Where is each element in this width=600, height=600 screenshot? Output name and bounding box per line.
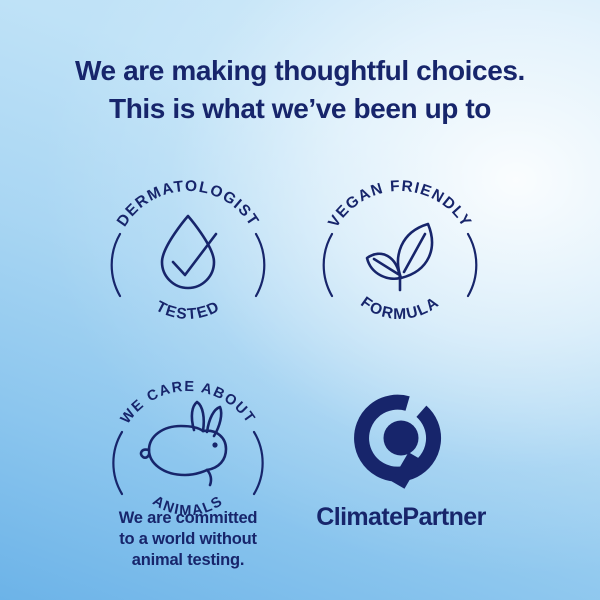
headline-line-2: This is what we’ve been up to: [0, 90, 600, 128]
climatepartner-ring-icon: [349, 390, 453, 494]
badge-bracket-left: [324, 234, 332, 296]
two-leaves-icon: [367, 224, 432, 290]
animal-testing-caption: We are committed to a world without anim…: [78, 508, 298, 570]
badge-top-arc-label: VEGAN FRIENDLY: [325, 178, 475, 231]
badge-bracket-left: [113, 432, 122, 494]
animal-caption-line-2: to a world without: [78, 529, 298, 550]
badge-top-arc-label: DERMATOLOGIST: [114, 178, 262, 230]
climatepartner-wordmark: ClimatePartner: [296, 503, 506, 532]
animal-caption-line-3: animal testing.: [78, 550, 298, 571]
badge-vegan-friendly-formula: VEGAN FRIENDLY FORMULA: [305, 168, 495, 338]
badge-dermatologist-tested: DERMATOLOGIST TESTED: [93, 168, 283, 338]
badge-bracket-left: [112, 234, 120, 296]
badge-bottom-arc-label: FORMULA: [357, 294, 442, 323]
page-title: We are making thoughtful choices. This i…: [0, 52, 600, 128]
badge-bracket-right: [254, 432, 263, 494]
climatepartner-block: ClimatePartner: [296, 390, 506, 532]
headline-line-1: We are making thoughtful choices.: [0, 52, 600, 90]
rabbit-icon: [141, 402, 226, 485]
badge-bracket-right: [256, 234, 264, 296]
promo-poster: We are making thoughtful choices. This i…: [0, 0, 600, 600]
badge-top-arc-label: WE CARE ABOUT: [118, 379, 259, 427]
animal-caption-line-1: We are committed: [78, 508, 298, 529]
badge-bracket-right: [468, 234, 476, 296]
water-droplet-check-icon: [162, 216, 216, 288]
badge-bottom-arc-label: TESTED: [153, 298, 223, 323]
